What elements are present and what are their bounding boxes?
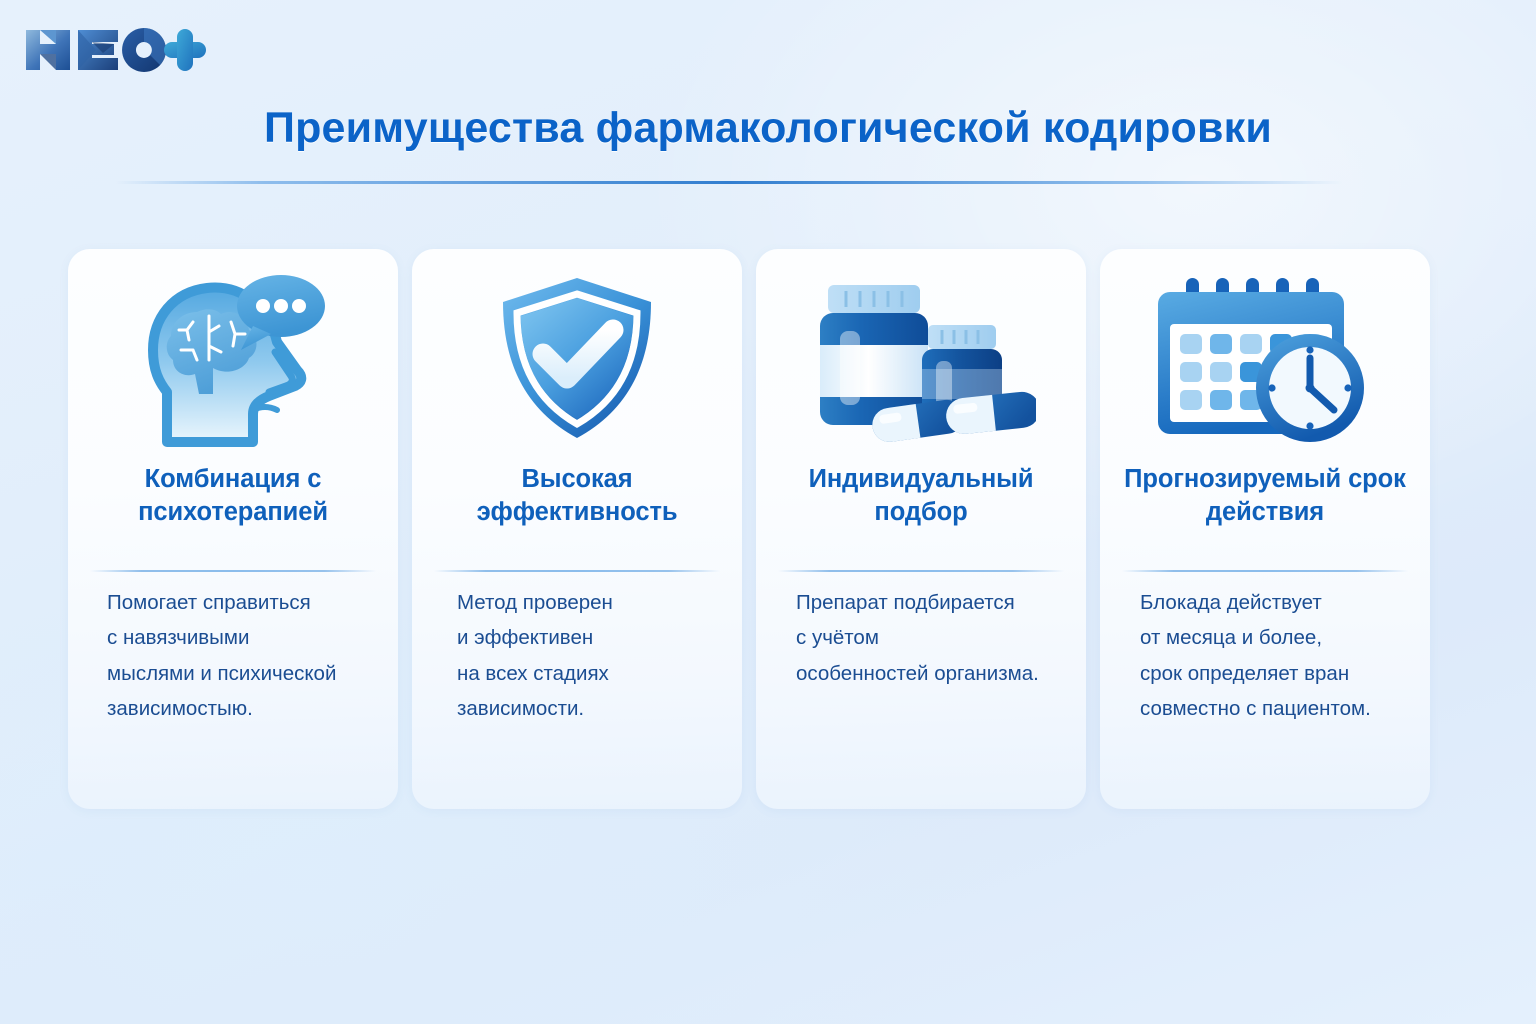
card-divider (434, 570, 720, 572)
card-body-text: Метод проверен и эффективен на всех стад… (409, 585, 745, 727)
pill-bottles-capsules-icon (756, 249, 1086, 461)
card-divider (778, 570, 1064, 572)
page-title: Преимущества фармакологической кодировки (0, 104, 1536, 153)
neo-plus-logo (18, 22, 208, 78)
card-body-text: Помогает справиться с навязчивыми мыслям… (71, 585, 395, 727)
benefit-card-effectiveness[interactable]: Высокая эффективность Метод проверен и э… (412, 249, 742, 809)
card-divider (90, 570, 376, 572)
benefit-card-predictable-duration[interactable]: Прогнозируемый срок действия Блокада дей… (1100, 249, 1430, 809)
card-divider (1122, 570, 1408, 572)
title-divider (115, 181, 1343, 184)
benefit-card-individual-selection[interactable]: Индивидуальный подбор Препарат подбирает… (756, 249, 1086, 809)
card-body-text: Препарат подбирается с учётом особенност… (758, 585, 1084, 691)
benefit-card-combination[interactable]: Комбинация с психотерапией Помогает спра… (68, 249, 398, 809)
card-body-text: Блокада действует от месяца и более, сро… (1102, 585, 1428, 727)
brand-logo (18, 22, 208, 78)
card-title: Прогнозируемый срок действия (1100, 463, 1430, 529)
shield-check-icon (412, 249, 742, 461)
card-title: Индивидуальный подбор (756, 463, 1086, 529)
head-brain-speech-bubble-icon (68, 249, 398, 461)
card-title: Высокая эффективность (412, 463, 742, 529)
card-title: Комбинация с психотерапией (68, 463, 398, 529)
benefit-card-row: Комбинация с психотерапией Помогает спра… (68, 249, 1468, 809)
calendar-clock-icon (1100, 249, 1430, 461)
